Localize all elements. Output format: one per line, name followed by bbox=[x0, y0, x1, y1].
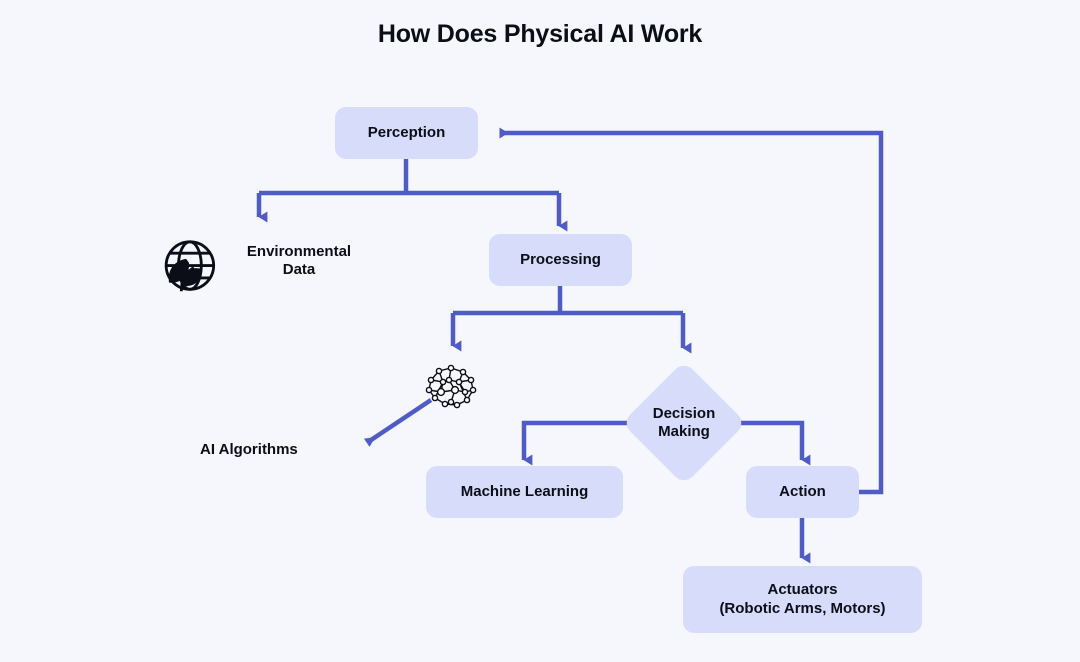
actuators-label-line2: (Robotic Arms, Motors) bbox=[719, 600, 885, 617]
node-decision-making[interactable]: Decision Making bbox=[622, 361, 746, 485]
label-environmental-data: Environmental Data bbox=[209, 243, 389, 280]
node-machine-learning-label: Machine Learning bbox=[461, 483, 589, 501]
ai-algorithms-text: AI Algorithms bbox=[200, 441, 298, 458]
decision-label-line1: Decision bbox=[653, 405, 716, 422]
node-perception-label: Perception bbox=[368, 124, 446, 142]
node-perception[interactable]: Perception bbox=[335, 107, 478, 159]
node-actuators-label: Actuators (Robotic Arms, Motors) bbox=[719, 581, 885, 618]
node-actuators[interactable]: Actuators (Robotic Arms, Motors) bbox=[683, 566, 922, 633]
page-title: How Does Physical AI Work bbox=[0, 20, 1080, 49]
environmental-data-line2: Data bbox=[283, 261, 316, 278]
edge-decision-to-ml bbox=[524, 423, 632, 460]
node-machine-learning[interactable]: Machine Learning bbox=[426, 466, 623, 518]
decision-label-line2: Making bbox=[658, 423, 710, 440]
node-action[interactable]: Action bbox=[746, 466, 859, 518]
environmental-data-line1: Environmental bbox=[247, 243, 351, 260]
node-processing[interactable]: Processing bbox=[489, 234, 632, 286]
node-action-label: Action bbox=[779, 483, 826, 501]
label-ai-algorithms: AI Algorithms bbox=[200, 441, 360, 459]
neural-brain-icon bbox=[421, 362, 479, 410]
diagram-canvas: How Does Physical AI Work bbox=[0, 0, 1080, 662]
edge-layer bbox=[0, 0, 1080, 662]
node-decision-making-label: Decision Making bbox=[622, 361, 746, 485]
actuators-label-line1: Actuators bbox=[767, 581, 837, 598]
node-processing-label: Processing bbox=[520, 251, 601, 269]
